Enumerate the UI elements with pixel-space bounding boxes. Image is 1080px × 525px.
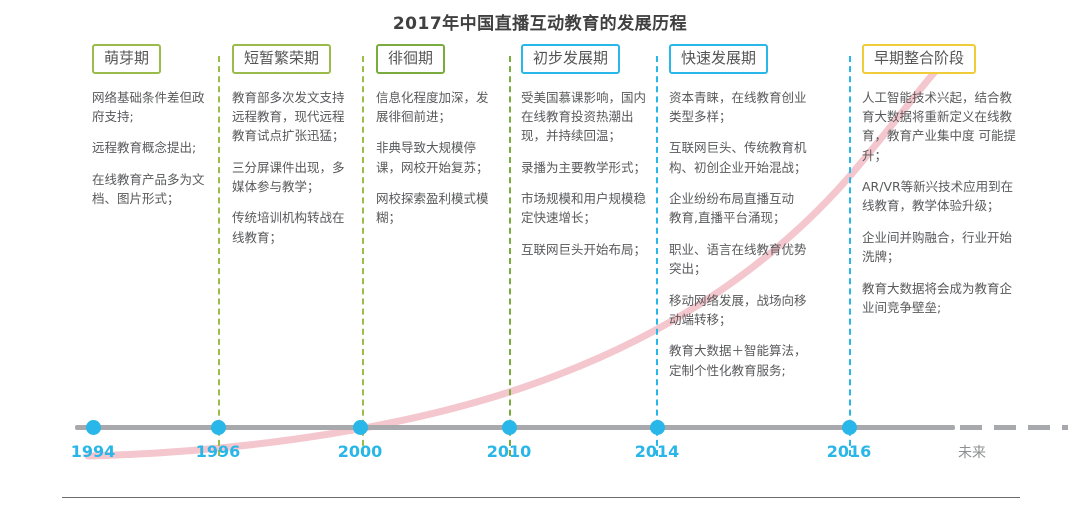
- timeline-dot[interactable]: [353, 420, 368, 435]
- phase-label-box[interactable]: 徘徊期: [376, 44, 445, 74]
- phase-column: 早期整合阶段人工智能技术兴起，结合教育大数据将重新定义在线教育，教育产业集中度 …: [862, 44, 1022, 329]
- phase-bullet: 三分屏课件出现，多媒体参与教学；: [232, 158, 356, 197]
- phase-label-box[interactable]: 早期整合阶段: [862, 44, 976, 74]
- phase-bullet: 信息化程度加深，发展徘徊前进；: [376, 88, 494, 127]
- phase-bullet: 远程教育概念提出;: [92, 138, 210, 157]
- phase-columns: 萌芽期网络基础条件差但政府支持;远程教育概念提出;在线教育产品多为文档、图片形式…: [0, 44, 1080, 474]
- phase-bullet: 网校探索盈利模式模糊；: [376, 189, 494, 228]
- timeline-year-label: 2014: [635, 442, 680, 461]
- phase-bullet: 非典导致大规模停课，网校开始复苏；: [376, 138, 494, 177]
- phase-bullet: 互联网巨头、传统教育机构、初创企业开始混战；: [669, 138, 809, 177]
- phase-bullet-list: 人工智能技术兴起，结合教育大数据将重新定义在线教育，教育产业集中度 可能提升；A…: [862, 88, 1022, 318]
- timeline-future-label: 未来: [958, 442, 986, 462]
- phase-bullet: 教育大数据＋智能算法，定制个性化教育服务;: [669, 341, 809, 380]
- timeline-dot[interactable]: [86, 420, 101, 435]
- phase-bullet: 网络基础条件差但政府支持;: [92, 88, 210, 127]
- phase-bullet: 职业、语言在线教育优势突出；: [669, 240, 809, 279]
- timeline-dot[interactable]: [211, 420, 226, 435]
- phase-column: 短暂繁荣期教育部多次发文支持远程教育，现代远程教育试点扩张迅猛；三分屏课件出现，…: [232, 44, 356, 259]
- phase-bullet: 资本青睐，在线教育创业类型多样；: [669, 88, 809, 127]
- timeline-board: 萌芽期网络基础条件差但政府支持;远程教育概念提出;在线教育产品多为文档、图片形式…: [0, 44, 1080, 474]
- page-title: 2017年中国直播互动教育的发展历程: [0, 0, 1080, 36]
- phase-bullet: 录播为主要教学形式；: [521, 158, 647, 177]
- phase-label-box[interactable]: 短暂繁荣期: [232, 44, 331, 74]
- phase-bullet: 企业纷纷布局直播互动 教育,直播平台涌现；: [669, 189, 809, 228]
- phase-label-box[interactable]: 初步发展期: [521, 44, 620, 74]
- phase-column: 初步发展期受美国慕课影响，国内在线教育投资热潮出现，并持续回温；录播为主要教学形…: [521, 44, 647, 271]
- phase-bullet: AR/VR等新兴技术应用到在线教育，教学体验升级；: [862, 177, 1022, 216]
- phase-bullet-list: 受美国慕课影响，国内在线教育投资热潮出现，并持续回温；录播为主要教学形式；市场规…: [521, 88, 647, 260]
- phase-column: 萌芽期网络基础条件差但政府支持;远程教育概念提出;在线教育产品多为文档、图片形式…: [92, 44, 210, 220]
- phase-column: 徘徊期信息化程度加深，发展徘徊前进；非典导致大规模停课，网校开始复苏；网校探索盈…: [376, 44, 494, 240]
- phase-bullet: 人工智能技术兴起，结合教育大数据将重新定义在线教育，教育产业集中度 可能提升；: [862, 88, 1022, 166]
- timeline-axis: 199419962000201020142016未来: [0, 412, 1080, 482]
- axis-line-dashed-future: [960, 425, 1068, 430]
- phase-bullet: 在线教育产品多为文档、图片形式；: [92, 170, 210, 209]
- phase-bullet: 受美国慕课影响，国内在线教育投资热潮出现，并持续回温；: [521, 88, 647, 146]
- timeline-year-label: 2000: [338, 442, 383, 461]
- phase-label-box[interactable]: 萌芽期: [92, 44, 161, 74]
- phase-label-box[interactable]: 快速发展期: [669, 44, 768, 74]
- timeline-year-label: 1994: [71, 442, 116, 461]
- phase-bullet-list: 信息化程度加深，发展徘徊前进；非典导致大规模停课，网校开始复苏；网校探索盈利模式…: [376, 88, 494, 228]
- phase-bullet: 教育大数据将会成为教育企业间竞争壁垒;: [862, 279, 1022, 318]
- bottom-divider: [62, 497, 1020, 498]
- phase-bullet-list: 网络基础条件差但政府支持;远程教育概念提出;在线教育产品多为文档、图片形式；: [92, 88, 210, 209]
- timeline-dot[interactable]: [842, 420, 857, 435]
- timeline-year-label: 1996: [196, 442, 241, 461]
- phase-bullet: 互联网巨头开始布局；: [521, 240, 647, 259]
- timeline-dot[interactable]: [502, 420, 517, 435]
- phase-bullet: 移动网络发展，战场向移动端转移；: [669, 291, 809, 330]
- timeline-year-label: 2010: [487, 442, 532, 461]
- phase-column: 快速发展期资本青睐，在线教育创业类型多样；互联网巨头、传统教育机构、初创企业开始…: [669, 44, 809, 392]
- phase-bullet: 企业间并购融合，行业开始洗牌；: [862, 228, 1022, 267]
- timeline-year-label: 2016: [827, 442, 872, 461]
- phase-bullet: 教育部多次发文支持远程教育，现代远程教育试点扩张迅猛；: [232, 88, 356, 146]
- phase-bullet: 市场规模和用户规模稳定快速增长；: [521, 189, 647, 228]
- timeline-dot[interactable]: [650, 420, 665, 435]
- phase-bullet: 传统培训机构转战在线教育；: [232, 208, 356, 247]
- phase-bullet-list: 教育部多次发文支持远程教育，现代远程教育试点扩张迅猛；三分屏课件出现，多媒体参与…: [232, 88, 356, 248]
- phase-bullet-list: 资本青睐，在线教育创业类型多样；互联网巨头、传统教育机构、初创企业开始混战；企业…: [669, 88, 809, 381]
